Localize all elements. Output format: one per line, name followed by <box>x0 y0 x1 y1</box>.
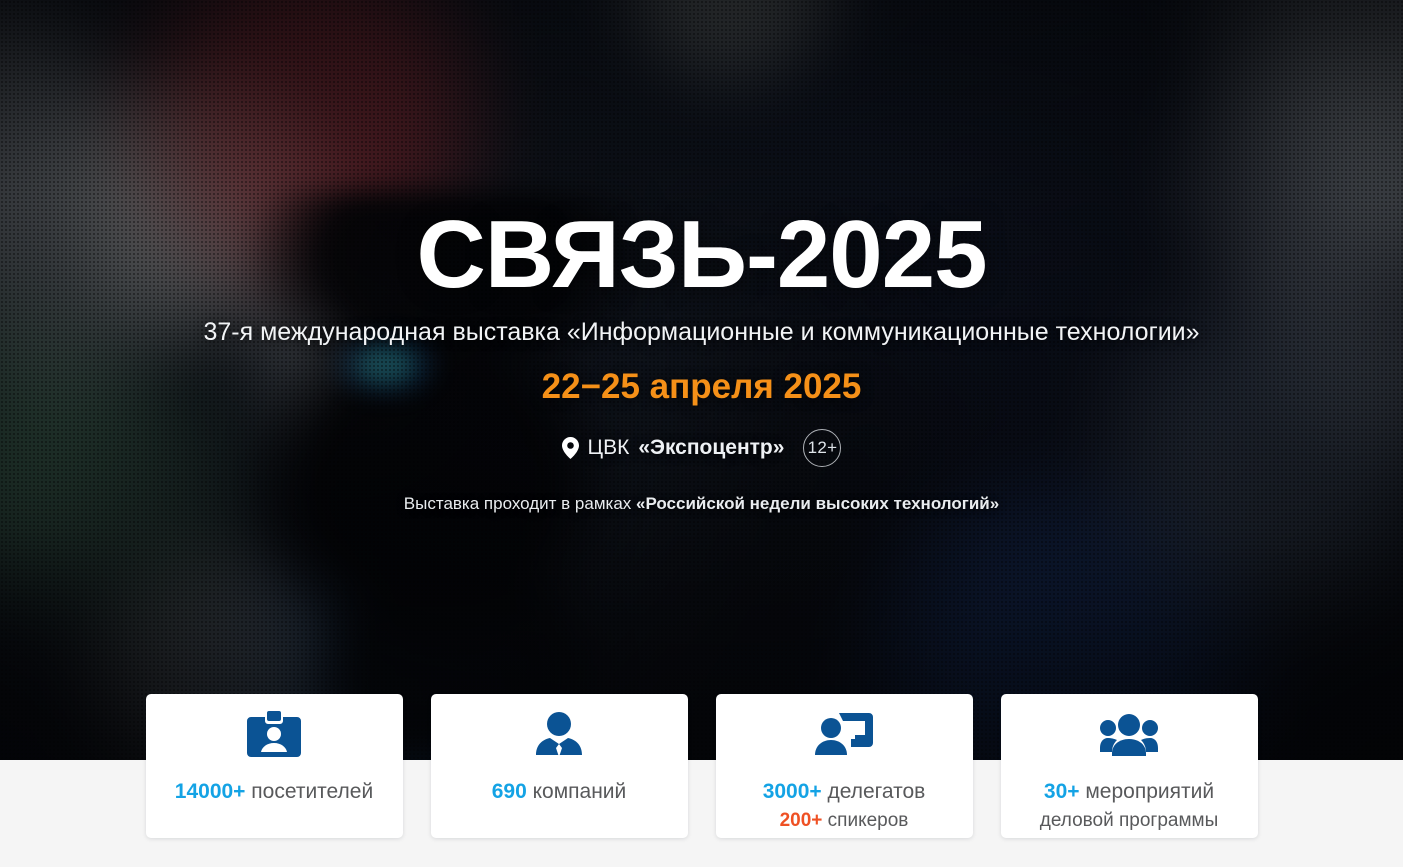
stat-label: мероприятий <box>1080 780 1215 803</box>
stat-number-secondary: 200+ <box>780 810 823 831</box>
stat-number: 690 <box>492 780 527 803</box>
event-dates: 22−25 апреля 2025 <box>542 367 862 407</box>
stat-line-primary: 14000+ посетителей <box>175 778 373 806</box>
id-badge-icon <box>247 710 301 762</box>
stat-line-primary: 690 компаний <box>492 778 627 806</box>
stat-card-companies[interactable]: 690 компаний <box>431 694 688 838</box>
stat-line-primary: 3000+ делегатов <box>763 778 926 806</box>
framework-prefix: Выставка проходит в рамках <box>404 494 636 513</box>
stat-card-visitors[interactable]: 14000+ посетителей <box>146 694 403 838</box>
hero-subtitle: 37-я международная выставка «Информацион… <box>203 318 1199 347</box>
venue-name: «Экспоцентр» <box>638 436 784 460</box>
stat-label: посетителей <box>245 780 373 803</box>
page-title: СВЯЗЬ-2025 <box>417 206 987 304</box>
venue-prefix: ЦВК <box>588 436 630 460</box>
people-group-icon <box>1100 710 1158 762</box>
framework-note: Выставка проходит в рамках «Российской н… <box>404 494 999 514</box>
stat-number: 3000+ <box>763 780 822 803</box>
stat-line-primary: 30+ мероприятий <box>1044 778 1214 806</box>
stat-label: компаний <box>527 780 626 803</box>
stat-number: 14000+ <box>175 780 246 803</box>
page-root: СВЯЗЬ-2025 37-я международная выставка «… <box>0 0 1403 867</box>
hero-content: СВЯЗЬ-2025 37-я международная выставка «… <box>0 0 1403 760</box>
stat-label-secondary: спикеров <box>822 810 908 831</box>
presentation-speaker-icon <box>815 710 873 762</box>
location-pin-icon <box>562 437 579 459</box>
age-rating-badge: 12+ <box>803 429 841 467</box>
stat-number: 30+ <box>1044 780 1080 803</box>
stat-line-secondary: деловой программы <box>1040 808 1219 833</box>
stat-line-secondary: 200+ спикеров <box>780 808 909 833</box>
venue-line: ЦВК «Экспоцентр» 12+ <box>562 429 842 467</box>
stat-card-delegates[interactable]: 3000+ делегатов 200+ спикеров <box>716 694 973 838</box>
businessman-icon <box>534 710 584 762</box>
stat-card-events[interactable]: 30+ мероприятий деловой программы <box>1001 694 1258 838</box>
stat-label: делегатов <box>822 780 926 803</box>
stats-row: 14000+ посетителей 690 компаний <box>0 694 1403 838</box>
framework-name: «Российской недели высоких технологий» <box>636 494 999 513</box>
